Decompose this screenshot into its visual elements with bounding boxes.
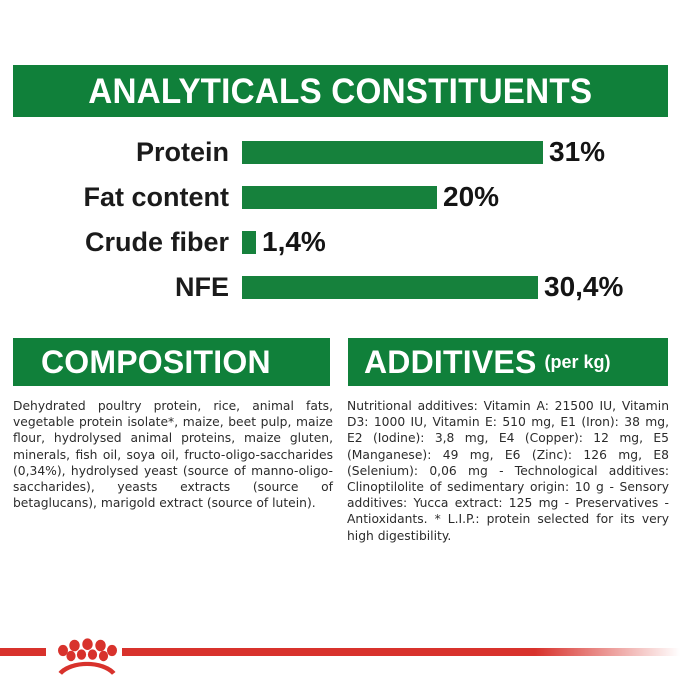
royal-canin-crown-icon <box>46 636 124 678</box>
bar-row-fat-content: Fat content 20% <box>13 176 668 218</box>
footer-rule-right <box>122 648 680 656</box>
bar-label-nfe: NFE <box>13 274 242 301</box>
additives-title: ADDITIVES <box>364 346 537 378</box>
bar-value-fat-content: 20% <box>443 183 499 211</box>
footer-rule-left <box>0 648 46 656</box>
bar-value-protein: 31% <box>549 138 605 166</box>
analyticals-constituents-banner: ANALYTICALS CONSTITUENTS <box>13 65 668 117</box>
additives-subtitle: (per kg) <box>545 353 611 371</box>
bar-fill-crude-fiber <box>242 231 256 254</box>
composition-title: COMPOSITION <box>41 346 271 378</box>
bar-row-nfe: NFE 30,4% <box>13 266 668 308</box>
bar-fill-nfe <box>242 276 538 299</box>
analyticals-title: ANALYTICALS CONSTITUENTS <box>89 74 593 109</box>
composition-banner: COMPOSITION <box>13 338 330 386</box>
bar-label-fat-content: Fat content <box>13 184 242 211</box>
bar-fill-protein <box>242 141 543 164</box>
composition-text: Dehydrated poultry protein, rice, animal… <box>13 398 333 511</box>
bar-track-crude-fiber: 1,4% <box>242 221 668 263</box>
bar-track-nfe: 30,4% <box>242 266 668 308</box>
nutrition-info-panel: ANALYTICALS CONSTITUENTS Protein 31% Fat… <box>0 0 680 680</box>
bar-label-protein: Protein <box>13 139 242 166</box>
footer <box>0 640 680 680</box>
bar-row-protein: Protein 31% <box>13 131 668 173</box>
additives-banner: ADDITIVES (per kg) <box>348 338 668 386</box>
bar-row-crude-fiber: Crude fiber 1,4% <box>13 221 668 263</box>
bar-value-crude-fiber: 1,4% <box>262 228 326 256</box>
analyticals-bar-chart: Protein 31% Fat content 20% Crude fiber … <box>13 131 668 311</box>
bar-fill-fat-content <box>242 186 437 209</box>
bar-value-nfe: 30,4% <box>544 273 623 301</box>
bar-track-protein: 31% <box>242 131 668 173</box>
bar-label-crude-fiber: Crude fiber <box>13 229 242 256</box>
additives-text: Nutritional additives: Vitamin A: 21500 … <box>347 398 669 544</box>
bar-track-fat-content: 20% <box>242 176 668 218</box>
